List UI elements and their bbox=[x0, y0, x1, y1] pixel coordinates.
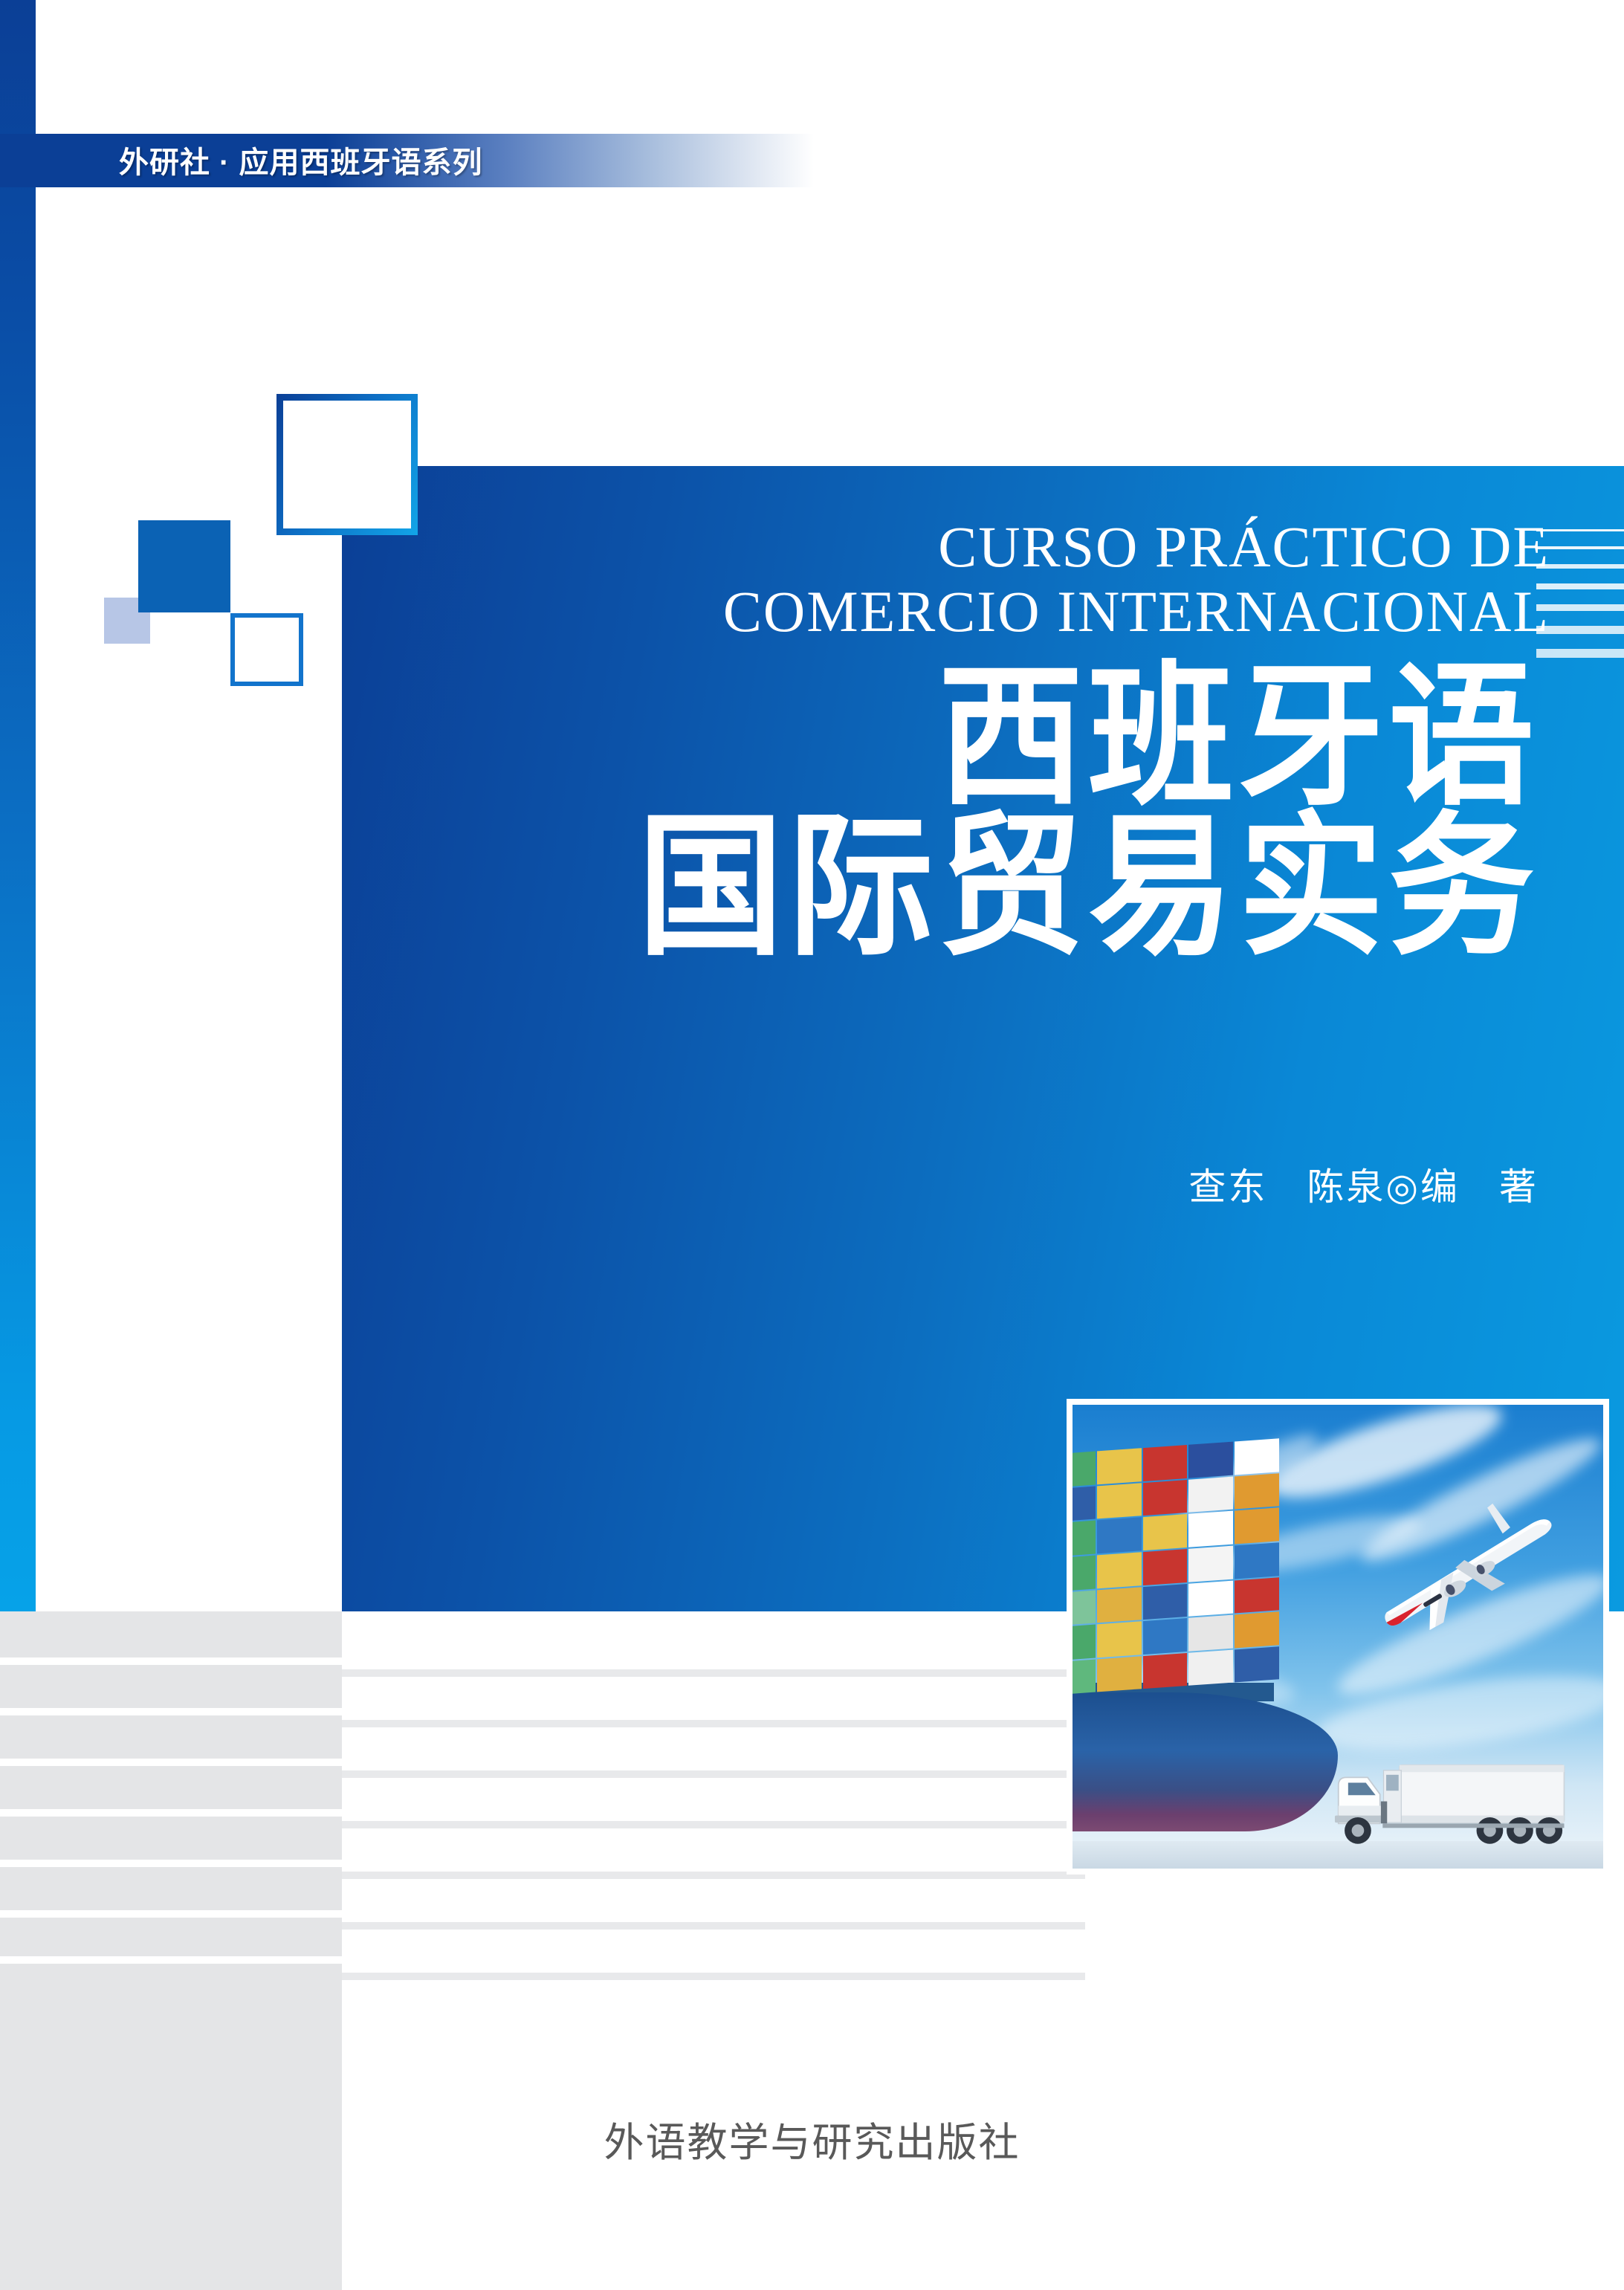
stripe-band bbox=[0, 1611, 342, 1657]
shipping-container bbox=[1189, 1476, 1234, 1513]
truck-icon bbox=[1311, 1757, 1587, 1854]
stripe-band bbox=[342, 1828, 1085, 1872]
stripe-band bbox=[342, 1930, 1085, 1973]
chinese-title-line-1: 西班牙语 bbox=[342, 659, 1539, 818]
stripe-band bbox=[342, 1922, 1085, 1930]
stripe-band bbox=[0, 1817, 342, 1860]
stripe-band bbox=[342, 1879, 1085, 1922]
shipping-container bbox=[1235, 1438, 1280, 1475]
stripe-band bbox=[0, 1708, 342, 1715]
stripe-band bbox=[0, 1766, 342, 1809]
book-cover: 外研社 · 应用西班牙语系列 CURSO PRÁCTICO DE COMERCI… bbox=[0, 0, 1624, 2290]
stripe-band bbox=[0, 1910, 342, 1918]
left-spine-bar bbox=[0, 0, 36, 1611]
shipping-container bbox=[1235, 1542, 1280, 1579]
shipping-container bbox=[1235, 1646, 1280, 1683]
stripe-band bbox=[0, 1956, 342, 1964]
publisher-name: 外语教学与研究出版社 bbox=[0, 2109, 1624, 2168]
stripe-band bbox=[0, 1867, 342, 1910]
stripe-band bbox=[0, 1657, 342, 1665]
stripes-right-column bbox=[342, 1611, 1085, 2290]
stripe-band bbox=[342, 1720, 1085, 1727]
stripe-band bbox=[342, 1677, 1085, 1720]
stripe-band bbox=[342, 1727, 1085, 1770]
shipping-container bbox=[1143, 1514, 1188, 1550]
shipping-container bbox=[1143, 1480, 1188, 1516]
stripe-band bbox=[0, 1665, 342, 1708]
shipping-container bbox=[1073, 1556, 1096, 1592]
author-byline: 查东 陈泉◎编 著 bbox=[342, 1157, 1539, 1211]
shipping-container bbox=[1143, 1653, 1188, 1689]
stripe-band bbox=[342, 1872, 1085, 1879]
shipping-container bbox=[1189, 1442, 1234, 1478]
shipping-container bbox=[1097, 1656, 1142, 1692]
container-ship-hull bbox=[1073, 1692, 1338, 1831]
shipping-container bbox=[1189, 1580, 1234, 1617]
decorative-square-outline-small bbox=[230, 613, 303, 686]
shipping-container bbox=[1235, 1473, 1280, 1510]
stripe-band bbox=[342, 1669, 1085, 1677]
shipping-container bbox=[1143, 1584, 1188, 1620]
cover-photo-frame bbox=[1067, 1399, 1609, 1875]
shipping-container bbox=[1073, 1486, 1096, 1522]
shipping-container bbox=[1189, 1511, 1234, 1547]
shipping-container bbox=[1235, 1508, 1280, 1545]
shipping-container bbox=[1097, 1587, 1142, 1623]
stripe-band bbox=[0, 1759, 342, 1766]
airplane-icon bbox=[1343, 1502, 1587, 1641]
shipping-container bbox=[1097, 1483, 1142, 1519]
stripe-band bbox=[0, 1918, 342, 1956]
stripe-band bbox=[0, 1809, 342, 1817]
stripe-band bbox=[342, 1770, 1085, 1778]
decorative-square-outline-large bbox=[276, 394, 418, 535]
chinese-title-line-2: 国际贸易实务 bbox=[342, 809, 1539, 968]
shipping-container bbox=[1097, 1622, 1142, 1658]
shipping-container bbox=[1143, 1445, 1188, 1481]
stripe-band bbox=[342, 1973, 1085, 1980]
decorative-square-blue bbox=[138, 520, 230, 612]
shipping-containers-stack bbox=[1073, 1438, 1279, 1695]
spanish-title: CURSO PRÁCTICO DE COMERCIO INTERNACIONAL bbox=[342, 514, 1550, 644]
stripe-band bbox=[342, 1778, 1085, 1821]
shipping-container bbox=[1073, 1521, 1096, 1557]
stripes-left-column bbox=[0, 1611, 342, 2290]
shipping-container bbox=[1235, 1612, 1280, 1649]
shipping-container bbox=[1073, 1590, 1096, 1626]
stripe-band bbox=[0, 1860, 342, 1867]
shipping-container bbox=[1097, 1448, 1142, 1484]
shipping-container bbox=[1143, 1618, 1188, 1655]
logistics-photo bbox=[1073, 1405, 1603, 1869]
shipping-container bbox=[1235, 1577, 1280, 1614]
stripe-band bbox=[342, 1611, 1085, 1669]
shipping-container bbox=[1143, 1549, 1188, 1585]
shipping-container bbox=[1097, 1518, 1142, 1554]
shipping-container bbox=[1073, 1660, 1096, 1696]
chinese-title: 西班牙语 国际贸易实务 bbox=[342, 663, 1539, 963]
shipping-container bbox=[1097, 1552, 1142, 1588]
shipping-container bbox=[1073, 1452, 1096, 1488]
series-banner-label: 外研社 · 应用西班牙语系列 bbox=[119, 138, 483, 181]
shipping-container bbox=[1189, 1650, 1234, 1686]
shipping-container bbox=[1189, 1546, 1234, 1582]
shipping-container bbox=[1073, 1625, 1096, 1661]
spanish-title-line-2: COMERCIO INTERNACIONAL bbox=[342, 579, 1550, 644]
spanish-title-line-1: CURSO PRÁCTICO DE bbox=[342, 514, 1550, 579]
stripe-band bbox=[0, 1715, 342, 1759]
stripe-band bbox=[342, 1821, 1085, 1828]
shipping-container bbox=[1189, 1615, 1234, 1652]
